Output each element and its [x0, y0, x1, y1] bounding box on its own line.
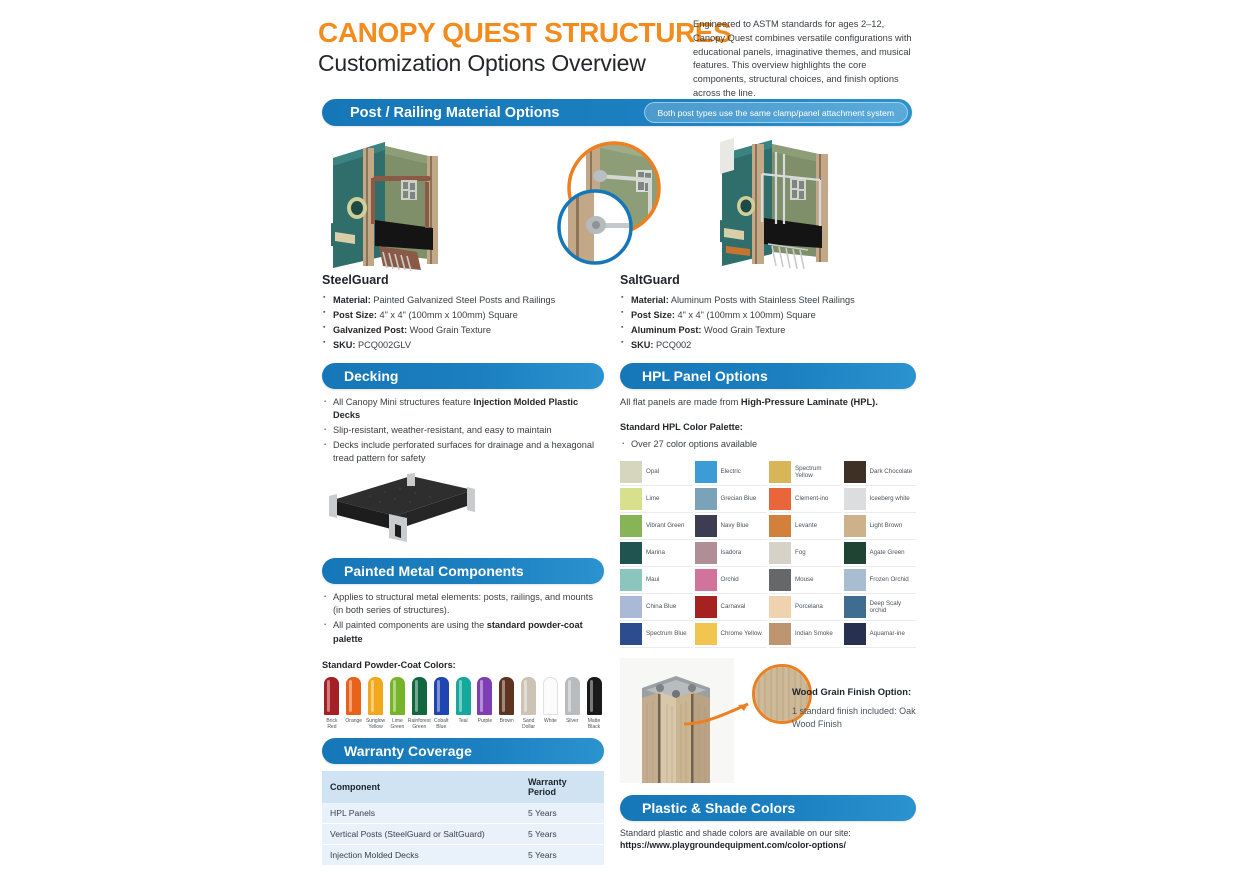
powder-coat-item: Purple: [475, 677, 495, 731]
banner-hpl-label: HPL Panel Options: [642, 368, 768, 384]
wood-grain-section: Wood Grain Finish Option: 1 standard fin…: [620, 658, 916, 783]
powder-coat-label: Orange: [345, 718, 362, 724]
hpl-color-cell: Iceeberg white: [844, 486, 917, 513]
bullet-text: Applies to structural metal elements: po…: [333, 592, 593, 615]
column-header-period: Warranty Period: [520, 771, 604, 803]
spec-label: SKU:: [333, 340, 355, 350]
list-item: Aluminum Post: Wood Grain Texture: [620, 324, 916, 337]
banner-post-railing: Post / Railing Material Options Both pos…: [322, 99, 912, 126]
hpl-color-label: Light Brown: [870, 522, 903, 530]
hpl-palette-bullets: Over 27 color options available: [620, 438, 916, 451]
powder-coat-chip: [521, 677, 536, 715]
powder-coat-label: Cobalt Blue: [431, 718, 451, 731]
hpl-color-grid: OpalElectricSpectrum YellowDark Chocolat…: [620, 459, 916, 648]
powder-coat-chip: [324, 677, 339, 715]
hpl-color-label: Levante: [795, 522, 817, 530]
list-item: Applies to structural metal elements: po…: [322, 591, 604, 618]
spec-label: Material:: [333, 295, 371, 305]
clamp-detail-callout: [540, 140, 700, 265]
hpl-color-label: Navy Blue: [721, 522, 749, 530]
hpl-color-label: Porcelana: [795, 603, 823, 611]
steelguard-block: SteelGuard Material: Painted Galvanized …: [322, 273, 604, 353]
saltguard-render-svg: [716, 128, 852, 273]
powder-coat-chip: [390, 677, 405, 715]
hpl-color-label: Carnaval: [721, 603, 746, 611]
hpl-color-swatch: [620, 488, 642, 510]
hpl-color-cell: Clement-ino: [769, 486, 842, 513]
bullet-text: Decks include perforated surfaces for dr…: [333, 440, 594, 463]
hpl-color-cell: Light Brown: [844, 513, 917, 540]
spec-label: SKU:: [631, 340, 653, 350]
banner-decking-label: Decking: [344, 368, 398, 384]
powder-coat-chip: [543, 677, 558, 715]
hpl-color-swatch: [844, 569, 866, 591]
list-item: Post Size: 4" x 4" (100mm x 100mm) Squar…: [620, 309, 916, 322]
powder-coat-label: Lime Green: [387, 718, 407, 731]
powder-coat-label: Brick Red: [322, 718, 342, 731]
hpl-color-label: Opal: [646, 468, 659, 476]
powder-coat-item: Silver: [562, 677, 582, 731]
hpl-color-cell: Fog: [769, 540, 842, 567]
spec-value: Painted Galvanized Steel Posts and Raili…: [373, 295, 555, 305]
hpl-color-swatch: [620, 623, 642, 645]
spec-value: PCQ002: [656, 340, 691, 350]
wood-grain-heading: Wood Grain Finish Option:: [792, 686, 916, 699]
hpl-color-label: Iceeberg white: [870, 495, 910, 503]
hpl-color-swatch: [844, 623, 866, 645]
hpl-color-swatch: [620, 461, 642, 483]
decking-section: Decking All Canopy Mini structures featu…: [322, 363, 604, 482]
hpl-color-cell: Aquamar-ine: [844, 621, 917, 648]
hpl-color-swatch: [844, 461, 866, 483]
powder-coat-item: Lime Green: [387, 677, 407, 731]
banner-post-railing-label: Post / Railing Material Options: [350, 105, 559, 121]
powder-coat-label: Purple: [478, 718, 492, 724]
hpl-color-swatch: [695, 596, 717, 618]
hpl-color-swatch: [769, 596, 791, 618]
hpl-color-label: China Blue: [646, 603, 676, 611]
hpl-color-label: Spectrum Blue: [646, 630, 687, 638]
hpl-color-label: Orchid: [721, 576, 739, 584]
hpl-color-cell: Levante: [769, 513, 842, 540]
hpl-color-swatch: [769, 569, 791, 591]
hpl-lead-bold: High-Pressure Laminate (HPL).: [741, 397, 878, 407]
clamp-callout-svg: [540, 140, 700, 265]
bullet-text: All Canopy Mini structures feature: [333, 397, 473, 407]
powder-coat-item: Brown: [497, 677, 517, 731]
hpl-section: HPL Panel Options All flat panels are ma…: [620, 363, 916, 648]
hpl-color-cell: Chrome Yellow: [695, 621, 768, 648]
hpl-color-cell: Marina: [620, 540, 693, 567]
spec-label: Material:: [631, 295, 669, 305]
painted-metal-bullet-list: Applies to structural metal elements: po…: [322, 591, 604, 646]
hpl-color-cell: Agate Green: [844, 540, 917, 567]
spec-label: Post Size:: [333, 310, 377, 320]
table-header-row: Component Warranty Period: [322, 771, 604, 803]
warranty-period-cell: 5 Years: [520, 845, 604, 866]
banner-warranty-label: Warranty Coverage: [344, 743, 472, 759]
list-item: Decks include perforated surfaces for dr…: [322, 439, 604, 466]
hpl-color-swatch: [695, 623, 717, 645]
hpl-color-label: Vibrant Green: [646, 522, 684, 530]
banner-painted-metal: Painted Metal Components: [322, 558, 604, 584]
wood-grain-text: Wood Grain Finish Option: 1 standard fin…: [792, 686, 916, 732]
powder-coat-item: Rainforest Green: [409, 677, 429, 731]
hpl-color-cell: Opal: [620, 459, 693, 486]
powder-coat-chip: [477, 677, 492, 715]
saltguard-block: SaltGuard Material: Aluminum Posts with …: [620, 273, 916, 353]
hpl-color-swatch: [620, 542, 642, 564]
hpl-color-cell: Isadora: [695, 540, 768, 567]
hpl-color-swatch: [620, 515, 642, 537]
bullet-text: Over 27 color options available: [631, 439, 757, 449]
bullet-text: Slip-resistant, weather-resistant, and e…: [333, 425, 552, 435]
powder-coat-title: Standard Powder-Coat Colors:: [322, 660, 604, 670]
list-item: SKU: PCQ002: [620, 339, 916, 352]
hpl-color-swatch: [769, 542, 791, 564]
hpl-color-swatch: [769, 461, 791, 483]
hpl-color-swatch: [620, 569, 642, 591]
hpl-color-label: Clement-ino: [795, 495, 828, 503]
spec-value: Aluminum Posts with Stainless Steel Rail…: [671, 295, 855, 305]
column-header-component: Component: [322, 771, 520, 803]
hpl-color-cell: Navy Blue: [695, 513, 768, 540]
hpl-color-swatch: [844, 542, 866, 564]
wood-grain-body: 1 standard finish included: Oak Wood Fin…: [792, 705, 916, 732]
hpl-color-cell: Grecian Blue: [695, 486, 768, 513]
hpl-color-swatch: [620, 596, 642, 618]
hpl-color-label: Deep Scaly orchid: [870, 600, 915, 616]
powder-coat-chip: [456, 677, 471, 715]
powder-coat-chip: [565, 677, 580, 715]
powder-coat-swatch-row: Brick RedOrangeSunglow YellowLime GreenR…: [322, 677, 604, 731]
plastic-shade-url[interactable]: https://www.playgroundequipment.com/colo…: [620, 840, 916, 850]
bullet-text: All painted components are using the: [333, 620, 487, 630]
painted-metal-section: Painted Metal Components Applies to stru…: [322, 558, 604, 730]
powder-coat-chip: [434, 677, 449, 715]
spec-value: Wood Grain Texture: [704, 325, 785, 335]
powder-coat-item: Sunglow Yellow: [366, 677, 386, 731]
list-item: Slip-resistant, weather-resistant, and e…: [322, 424, 604, 437]
warranty-period-cell: 5 Years: [520, 803, 604, 824]
list-item: SKU: PCQ002GLV: [322, 339, 604, 352]
list-item: Over 27 color options available: [620, 438, 916, 451]
powder-coat-chip: [368, 677, 383, 715]
saltguard-title: SaltGuard: [620, 273, 916, 287]
hpl-color-label: Indian Smoke: [795, 630, 833, 638]
table-row: Vertical Posts (SteelGuard or SaltGuard)…: [322, 824, 604, 845]
hpl-color-label: Mouse: [795, 576, 814, 584]
warranty-table: Component Warranty Period HPL Panels5 Ye…: [322, 771, 604, 866]
warranty-component-cell: HPL Panels: [322, 803, 520, 824]
steelguard-title: SteelGuard: [322, 273, 604, 287]
hpl-color-label: Grecian Blue: [721, 495, 757, 503]
hpl-color-swatch: [769, 488, 791, 510]
spec-value: Wood Grain Texture: [410, 325, 491, 335]
spec-value: PCQ002GLV: [358, 340, 411, 350]
banner-warranty: Warranty Coverage: [322, 738, 604, 764]
spec-label: Aluminum Post:: [631, 325, 701, 335]
spec-value: 4" x 4" (100mm x 100mm) Square: [379, 310, 517, 320]
powder-coat-label: Brown: [500, 718, 514, 724]
hpl-color-swatch: [695, 488, 717, 510]
hpl-color-cell: Spectrum Yellow: [769, 459, 842, 486]
powder-coat-chip: [346, 677, 361, 715]
hpl-color-swatch: [695, 461, 717, 483]
hpl-color-swatch: [769, 515, 791, 537]
list-item: Galvanized Post: Wood Grain Texture: [322, 324, 604, 337]
hpl-color-cell: Frozen Orchid: [844, 567, 917, 594]
hpl-color-label: Fog: [795, 549, 806, 557]
table-row: Injection Molded Decks5 Years: [322, 845, 604, 866]
saltguard-photo: [716, 128, 852, 273]
warranty-component-cell: Vertical Posts (SteelGuard or SaltGuard): [322, 824, 520, 845]
powder-coat-item: Brick Red: [322, 677, 342, 731]
warranty-component-cell: Injection Molded Decks: [322, 845, 520, 866]
post-railing-note-pill: Both post types use the same clamp/panel…: [644, 102, 908, 123]
powder-coat-chip: [499, 677, 514, 715]
banner-plastic-shade-label: Plastic & Shade Colors: [642, 800, 795, 816]
hpl-color-label: Maui: [646, 576, 659, 584]
hpl-color-swatch: [695, 542, 717, 564]
hpl-color-cell: Mouse: [769, 567, 842, 594]
list-item: All painted components are using the sta…: [322, 619, 604, 646]
powder-coat-item: Sand Dollar: [519, 677, 539, 731]
hpl-color-cell: Orchid: [695, 567, 768, 594]
powder-coat-label: White: [544, 718, 557, 724]
spec-value: 4" x 4" (100mm x 100mm) Square: [677, 310, 815, 320]
warranty-section: Warranty Coverage Component Warranty Per…: [322, 738, 604, 866]
powder-coat-chip: [412, 677, 427, 715]
hpl-lead-text: All flat panels are made from: [620, 397, 741, 407]
warranty-period-cell: 5 Years: [520, 824, 604, 845]
spec-label: Galvanized Post:: [333, 325, 407, 335]
powder-coat-item: Cobalt Blue: [431, 677, 451, 731]
header-description: Engineered to ASTM standards for ages 2–…: [693, 18, 918, 101]
powder-coat-label: Sand Dollar: [519, 718, 539, 731]
hpl-color-label: Marina: [646, 549, 665, 557]
banner-decking: Decking: [322, 363, 604, 389]
hpl-color-label: Frozen Orchid: [870, 576, 909, 584]
hpl-color-cell: China Blue: [620, 594, 693, 621]
list-item: All Canopy Mini structures feature Injec…: [322, 396, 604, 423]
hpl-color-label: Aquamar-ine: [870, 630, 905, 638]
hpl-palette-title: Standard HPL Color Palette:: [620, 422, 916, 432]
hpl-color-label: Lime: [646, 495, 659, 503]
hpl-color-cell: Deep Scaly orchid: [844, 594, 917, 621]
spec-label: Post Size:: [631, 310, 675, 320]
list-item: Post Size: 4" x 4" (100mm x 100mm) Squar…: [322, 309, 604, 322]
hpl-color-label: Dark Chocolate: [870, 468, 913, 476]
hpl-color-swatch: [695, 515, 717, 537]
list-item: Material: Aluminum Posts with Stainless …: [620, 294, 916, 307]
hpl-color-cell: Indian Smoke: [769, 621, 842, 648]
hpl-color-label: Isadora: [721, 549, 742, 557]
deck-photo: [315, 468, 490, 548]
saltguard-spec-list: Material: Aluminum Posts with Stainless …: [620, 294, 916, 352]
plastic-shade-note: Standard plastic and shade colors are av…: [620, 827, 916, 840]
banner-painted-metal-label: Painted Metal Components: [344, 563, 524, 579]
powder-coat-item: Matte Black: [584, 677, 604, 731]
hpl-color-swatch: [695, 569, 717, 591]
banner-hpl: HPL Panel Options: [620, 363, 916, 389]
hpl-color-label: Chrome Yellow: [721, 630, 762, 638]
steelguard-photo: [325, 128, 467, 273]
hpl-lead: All flat panels are made from High-Press…: [620, 396, 916, 410]
powder-coat-item: White: [540, 677, 560, 731]
plastic-shade-section: Plastic & Shade Colors Standard plastic …: [620, 795, 916, 850]
hpl-color-swatch: [844, 488, 866, 510]
powder-coat-label: Rainforest Green: [408, 718, 431, 731]
powder-coat-chip: [587, 677, 602, 715]
powder-coat-label: Sunglow Yellow: [366, 718, 386, 731]
hpl-color-cell: Lime: [620, 486, 693, 513]
steelguard-spec-list: Material: Painted Galvanized Steel Posts…: [322, 294, 604, 352]
hpl-color-swatch: [769, 623, 791, 645]
hpl-color-cell: Porcelana: [769, 594, 842, 621]
hpl-color-label: Spectrum Yellow: [795, 465, 840, 481]
banner-plastic-shade: Plastic & Shade Colors: [620, 795, 916, 821]
hpl-color-cell: Maui: [620, 567, 693, 594]
hpl-color-cell: Vibrant Green: [620, 513, 693, 540]
hpl-color-cell: Dark Chocolate: [844, 459, 917, 486]
powder-coat-label: Silver: [566, 718, 579, 724]
powder-coat-label: Matte Black: [584, 718, 604, 731]
deck-render-svg: [315, 468, 490, 548]
hpl-color-swatch: [844, 596, 866, 618]
hpl-color-label: Agate Green: [870, 549, 905, 557]
list-item: Material: Painted Galvanized Steel Posts…: [322, 294, 604, 307]
hpl-color-cell: Electric: [695, 459, 768, 486]
hpl-color-label: Electric: [721, 468, 741, 476]
callout-arrow-icon: [682, 698, 758, 728]
powder-coat-label: Teal: [458, 718, 467, 724]
infographic-page: CANOPY QUEST STRUCTURES Customization Op…: [0, 0, 1235, 872]
hpl-color-cell: Spectrum Blue: [620, 621, 693, 648]
hpl-color-swatch: [844, 515, 866, 537]
powder-coat-item: Teal: [453, 677, 473, 731]
powder-coat-item: Orange: [344, 677, 364, 731]
steelguard-render-svg: [325, 128, 467, 273]
hpl-color-cell: Carnaval: [695, 594, 768, 621]
table-row: HPL Panels5 Years: [322, 803, 604, 824]
